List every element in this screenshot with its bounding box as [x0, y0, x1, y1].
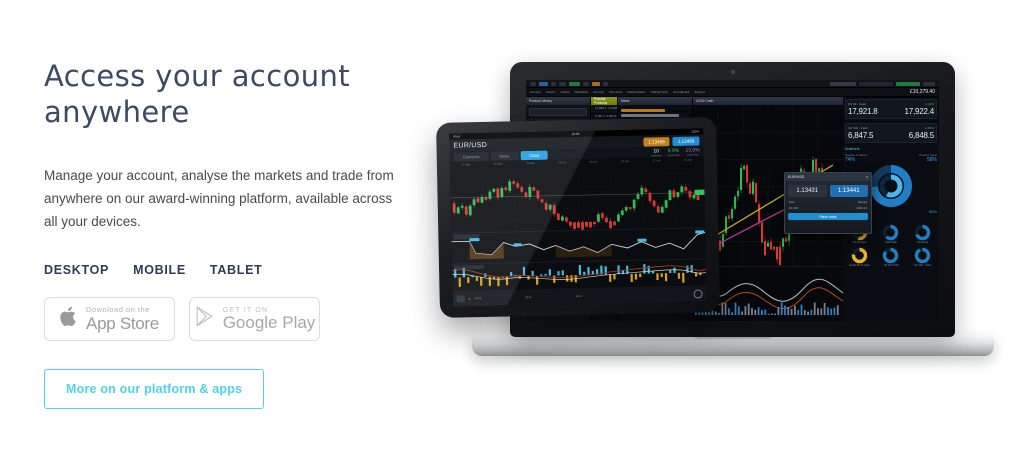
mini-donut: US Tech 100	[877, 247, 906, 267]
toolbar-item-market-rates[interactable]: Market Rates	[627, 90, 645, 94]
tablet-stats: 10 sentiment 0.9% clients long 13.0% val…	[651, 147, 700, 157]
tab-tablet[interactable]: TABLET	[210, 263, 263, 277]
tablet-buy-button[interactable]: 1.13466	[673, 136, 700, 146]
mini-donut: Crude Brent Cash	[845, 247, 874, 267]
tablet-tab-news[interactable]: News	[490, 151, 518, 161]
x-axis-label: 26 May	[494, 162, 503, 165]
tablet-price-chart[interactable]	[450, 162, 705, 232]
google-play-label: GET IT ON Google Play	[223, 307, 316, 331]
mini-donut-label: Crude Brent Cash	[845, 264, 874, 267]
app-store-badges: Download on the App Store GET IT ON Goog…	[44, 297, 414, 341]
quote-change: -0.82%	[924, 126, 934, 130]
tab-desktop[interactable]: DESKTOP	[44, 263, 109, 277]
ticker-time: 18:41	[525, 295, 532, 298]
google-play-button[interactable]: GET IT ON Google Play	[189, 297, 320, 341]
mini-donut-label: US 30 Cash	[845, 241, 874, 244]
popular-products-title: Popular Products	[591, 97, 617, 105]
balance-value: £10,279.40	[910, 89, 935, 95]
hero-subcopy: Manage your account, analyse the markets…	[44, 164, 414, 233]
toolbar-account-label: Account	[530, 90, 541, 94]
deal-ticket-size-value[interactable]: 10,000	[789, 206, 798, 210]
table-row[interactable]: US 30 - Cash17,880.117,948.3-0.31%17,921…	[591, 105, 617, 112]
quote-buy[interactable]: 6,848.5	[909, 131, 934, 140]
x-axis-label: 22 May	[462, 163, 471, 166]
quote-change: -0.31%	[924, 102, 934, 106]
product-high: 6,835.8	[607, 114, 617, 118]
x-axis-label: 08 Jun	[590, 160, 598, 163]
toolbar-item-trading-tools[interactable]: Trading Tools	[650, 90, 668, 94]
mini-donut-label: US Tech 100	[877, 264, 906, 267]
tablet-stat-value: 0.9%	[667, 147, 679, 153]
quote-sell[interactable]: 6,847.5	[848, 131, 873, 140]
chart-panel-title: US30 Cash	[693, 97, 843, 105]
mini-donut-label: Gold Cash	[877, 241, 906, 244]
tablet-stat-value: 13.0%	[685, 147, 699, 153]
ticker-time: 19:02	[475, 297, 482, 300]
ticker-item[interactable]: 18:41	[525, 295, 572, 299]
webcam-icon	[731, 70, 735, 74]
quote-sell[interactable]: 17,921.8	[848, 107, 878, 116]
library-search-input[interactable]	[529, 108, 587, 116]
toolbar-item-soundboard[interactable]: Soundboard	[673, 90, 689, 94]
tablet-screen: iPad 19:26 100% EUR/USD 1.13456 1.13466 …	[449, 128, 707, 306]
play-icon[interactable]: ▸	[469, 296, 471, 301]
quote-card[interactable]: US 30 - Cash -0.31% 17,921.8 17,922.4	[845, 99, 937, 119]
tablet-tab-chart[interactable]: Chart	[520, 150, 548, 160]
page-title: Access your account anywhere	[44, 58, 414, 130]
place-trade-button[interactable]: Place trade	[788, 213, 868, 220]
status-carrier: iPad	[453, 134, 459, 138]
status-battery: 100%	[691, 129, 699, 133]
product-last: 17,880.1	[595, 106, 606, 110]
news-timestamp	[621, 109, 665, 112]
close-icon[interactable]: ×	[866, 175, 868, 179]
toolbar-item-library[interactable]: Library	[560, 90, 569, 94]
device-tabs: DESKTOP MOBILE TABLET	[44, 263, 414, 277]
news-panel-title: News	[618, 97, 692, 105]
sentiment-bottom-right-value: 55%	[929, 209, 937, 214]
google-play-big-label: Google Play	[223, 314, 316, 331]
ticker-item[interactable]: 18:15	[576, 294, 623, 298]
quote-symbol: US 30 - Cash	[848, 102, 866, 106]
tab-mobile[interactable]: MOBILE	[133, 263, 186, 277]
more-on-platform-button[interactable]: More on our platform & apps	[44, 369, 264, 409]
product-last: 6,780.4	[595, 114, 605, 118]
quote-symbol: UK 100 - Cash	[848, 126, 868, 130]
mini-donut: Oil Group	[908, 224, 937, 244]
sentiment-title: Sentiment	[845, 147, 937, 151]
sentiment-left-value: 74%	[845, 157, 855, 163]
mini-donut-label: Oil Group	[908, 241, 937, 244]
ticker-item[interactable]: 19:02	[475, 296, 522, 300]
status-time: 19:26	[571, 132, 579, 136]
menu-icon[interactable]	[457, 295, 465, 302]
x-axis-label: 31 May	[526, 161, 535, 164]
gear-icon[interactable]	[694, 289, 703, 298]
x-axis-label: 21 Jun	[684, 158, 692, 161]
deal-ticket-popup[interactable]: EUR/USD × 1.13431 1.13441 Size Margin 10…	[784, 172, 872, 234]
app-store-label: Download on the App Store	[86, 306, 159, 333]
deal-ticket-buy-button[interactable]: 1.13441	[830, 185, 869, 197]
deal-ticket-margin-value: 1,462.12	[855, 206, 867, 210]
toolbar-item-watchlists[interactable]: Watchlists	[575, 90, 589, 94]
app-store-small-label: Download on the	[86, 306, 159, 314]
mini-donut: UK 100 - Cash	[908, 247, 937, 267]
tablet-tab-overview[interactable]: Overview	[454, 151, 489, 161]
sentiment-right-value: 58%	[927, 157, 937, 163]
x-axis-label: 17 Jun	[653, 159, 661, 162]
toolbar-item-payments[interactable]: Payments	[609, 90, 622, 94]
apple-icon	[60, 305, 79, 333]
mini-donut-label: UK 100 - Cash	[908, 264, 937, 267]
ticker-time: 18:15	[576, 294, 583, 297]
news-headline	[621, 114, 679, 117]
deal-ticket-size-label: Size	[789, 200, 795, 204]
google-play-icon	[194, 305, 216, 333]
platform-toolbar-primary[interactable]	[526, 80, 939, 88]
deal-ticket-symbol: EUR/USD	[788, 175, 804, 179]
tablet-sell-button[interactable]: 1.13456	[643, 137, 670, 147]
mini-donut: Gold Cash	[877, 224, 906, 244]
tablet-device: iPad 19:26 100% EUR/USD 1.13456 1.13466 …	[436, 117, 720, 318]
device-photo-group: Account Search Library Watchlists Accoun…	[418, 0, 1024, 456]
x-axis-label: 13 Jun	[621, 159, 629, 162]
app-store-big-label: App Store	[86, 315, 159, 332]
toolbar-item-search[interactable]: Search	[546, 90, 556, 94]
deal-ticket-margin-label: Margin	[858, 200, 867, 204]
platform-toolbar-secondary[interactable]: Account Search Library Watchlists Accoun…	[526, 88, 939, 97]
hero-copy-block: Access your account anywhere Manage your…	[44, 58, 414, 409]
app-store-button[interactable]: Download on the App Store	[44, 297, 175, 341]
tablet-symbol-name: EUR/USD	[453, 141, 487, 149]
deal-ticket-sell-button[interactable]: 1.13431	[788, 185, 827, 197]
quote-buy[interactable]: 17,922.4	[904, 107, 934, 116]
toolbar-item-support[interactable]: Support	[694, 90, 705, 94]
toolbar-item-account[interactable]: Account	[593, 90, 604, 94]
x-axis-label: 04 Jun	[558, 161, 566, 164]
quote-card[interactable]: UK 100 - Cash -0.82% 6,847.5 6,848.5	[845, 123, 937, 143]
product-library-title: Product Library	[526, 97, 590, 105]
tablet-macd-indicator	[452, 258, 707, 290]
